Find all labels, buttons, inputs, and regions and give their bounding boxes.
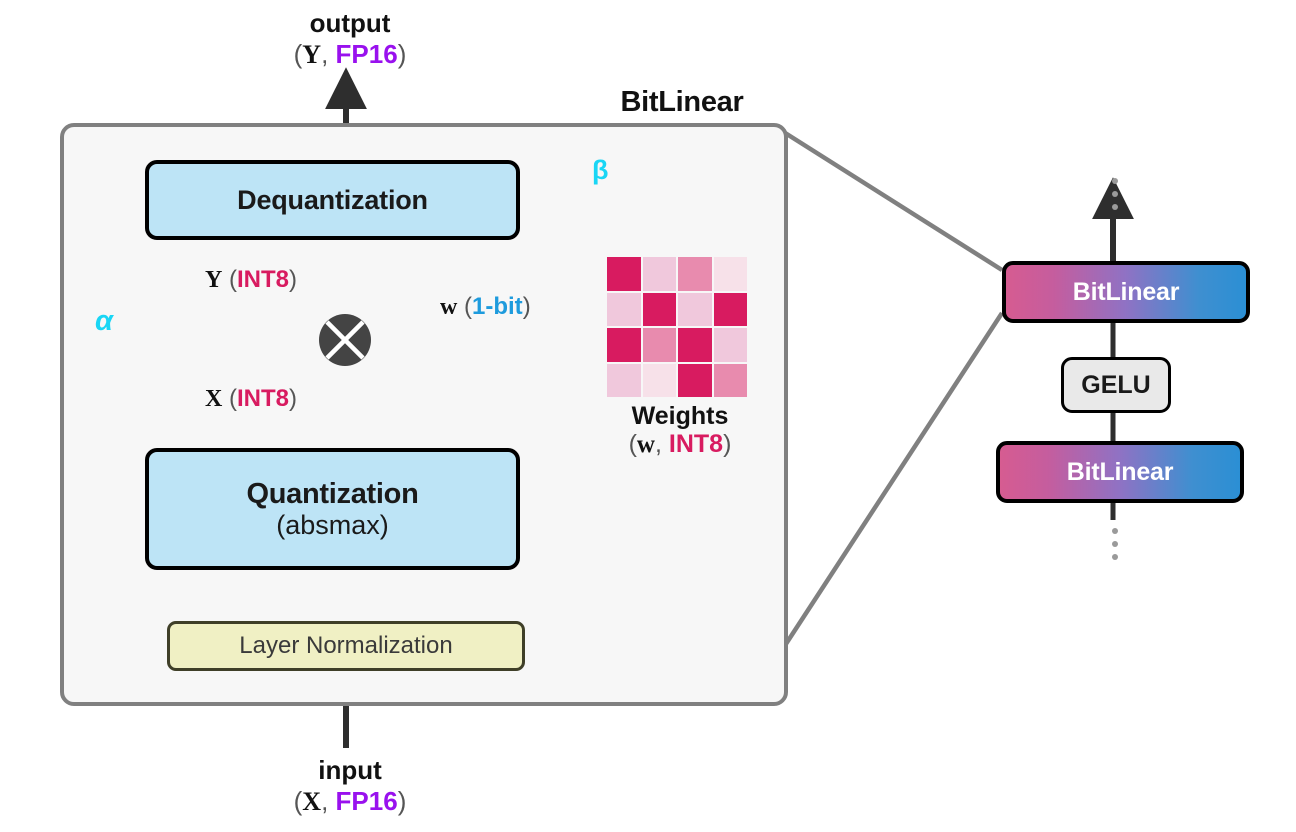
input-name: input — [245, 755, 455, 786]
output-symbol: Y — [302, 40, 321, 69]
output-comma: , — [321, 39, 335, 69]
bitlinear-container-title: BitLinear — [592, 85, 772, 119]
quantization-block[interactable]: Quantization (absmax) — [145, 448, 520, 570]
weights-dtype: INT8 — [669, 430, 723, 458]
quantization-sublabel: (absmax) — [276, 510, 389, 540]
weights-comma: , — [655, 430, 669, 458]
input-dtype-line: (X, FP16) — [245, 786, 455, 818]
beta-label: β — [592, 155, 608, 186]
weight-cell-0-2 — [678, 257, 712, 291]
dequantization-label: Dequantization — [237, 185, 428, 216]
ellipsis-icon-top — [1112, 178, 1118, 210]
zoom-connector-bottom — [782, 313, 1002, 650]
bitlinear-block-bottom[interactable]: BitLinear — [996, 441, 1244, 503]
y-open-paren: ( — [222, 266, 237, 293]
weight-cell-2-1 — [643, 328, 677, 362]
weight-cell-0-3 — [714, 257, 748, 291]
weight-cell-3-1 — [643, 364, 677, 398]
weights-caption-title: Weights — [590, 402, 770, 430]
input-close-paren: ) — [398, 786, 407, 816]
weights-open-paren: ( — [629, 430, 637, 458]
weights-caption-dtype-line: (w, INT8) — [590, 430, 770, 459]
weight-cell-0-0 — [607, 257, 641, 291]
gelu-label: GELU — [1081, 371, 1150, 400]
x-symbol: X — [205, 386, 222, 412]
w-close-paren: ) — [523, 293, 531, 320]
weight-cell-3-0 — [607, 364, 641, 398]
y-dtype: INT8 — [237, 266, 289, 293]
weight-cell-1-0 — [607, 293, 641, 327]
weight-cell-0-1 — [643, 257, 677, 291]
input-open-paren: ( — [294, 786, 303, 816]
w-open-paren: ( — [457, 293, 472, 320]
weight-cell-2-3 — [714, 328, 748, 362]
weight-cell-1-2 — [678, 293, 712, 327]
output-label: output (Y, FP16) — [245, 8, 455, 70]
zoom-connector-top — [782, 131, 1002, 270]
bitlinear-block-top[interactable]: BitLinear — [1002, 261, 1250, 323]
layer-normalization-block[interactable]: Layer Normalization — [167, 621, 525, 671]
w-symbol: w — [440, 294, 457, 320]
w-1bit-label: w (1-bit) — [440, 293, 531, 321]
x-close-paren: ) — [289, 385, 297, 412]
weights-matrix — [607, 257, 747, 397]
ellipsis-icon-bottom — [1112, 528, 1118, 560]
gelu-block[interactable]: GELU — [1061, 357, 1171, 413]
weights-caption: Weights (w, INT8) — [590, 402, 770, 459]
x-dtype: INT8 — [237, 385, 289, 412]
output-name: output — [245, 8, 455, 39]
y-symbol: Y — [205, 267, 222, 293]
weights-close-paren: ) — [723, 430, 731, 458]
input-dtype: FP16 — [336, 786, 398, 816]
y-close-paren: ) — [289, 266, 297, 293]
alpha-label: α — [95, 305, 113, 338]
output-dtype: FP16 — [336, 39, 398, 69]
w-dtype: 1-bit — [472, 293, 523, 320]
output-open-paren: ( — [294, 39, 303, 69]
weight-cell-2-0 — [607, 328, 641, 362]
input-label: input (X, FP16) — [245, 755, 455, 817]
weights-symbol: w — [637, 431, 655, 458]
bitlinear-block-bottom-label: BitLinear — [1067, 458, 1174, 487]
x-open-paren: ( — [222, 385, 237, 412]
weight-cell-1-1 — [643, 293, 677, 327]
y-int8-label: Y (INT8) — [205, 266, 297, 294]
x-int8-label: X (INT8) — [205, 385, 297, 413]
weight-cell-1-3 — [714, 293, 748, 327]
weight-cell-3-3 — [714, 364, 748, 398]
input-symbol: X — [302, 787, 321, 816]
output-close-paren: ) — [398, 39, 407, 69]
multiply-icon — [318, 313, 372, 367]
dequantization-block[interactable]: Dequantization — [145, 160, 520, 240]
weight-cell-3-2 — [678, 364, 712, 398]
input-comma: , — [321, 786, 335, 816]
layer-normalization-label: Layer Normalization — [239, 632, 452, 660]
bitlinear-block-top-label: BitLinear — [1073, 278, 1180, 307]
output-dtype-line: (Y, FP16) — [245, 39, 455, 71]
quantization-label: Quantization — [246, 478, 418, 510]
weight-cell-2-2 — [678, 328, 712, 362]
